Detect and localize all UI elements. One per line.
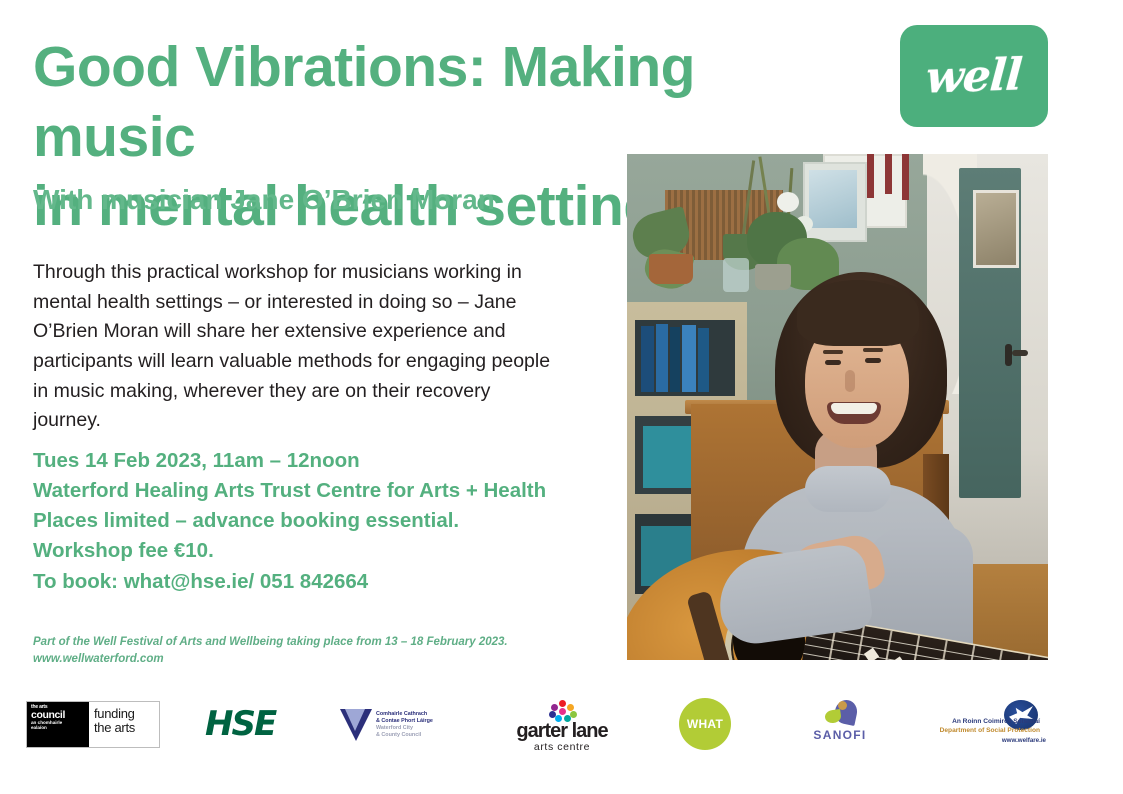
festival-note-line-1: Part of the Well Festival of Arts and We… [33,634,633,651]
hse-logo: HSE [205,702,279,746]
waterford-line-3: Waterford City [376,725,433,732]
garter-lane-sub: arts centre [512,741,612,755]
photo-folder-1 [641,326,654,392]
garter-lane-pinwheel-icon [547,700,577,720]
what-wordmark: WHAT [687,717,723,731]
sanofi-logo: SANOFI [805,700,875,750]
detail-booking-notice: Places limited – advance booking essenti… [33,506,593,536]
well-wordmark: well [924,49,1023,103]
photo-vase [723,258,749,292]
dept-social-protection-logo: An Roinn Coimirce Sóisialaí Department o… [920,702,1060,748]
photo-eyebrow-left [823,350,843,354]
photo-hair-front [797,280,919,346]
workshop-photo [627,154,1048,660]
photo-candle-3 [902,154,909,200]
arts-council-line-4: ealaíon [31,726,85,731]
waterford-line-4: & County Council [376,732,433,739]
poster-canvas: well Good Vibrations: Making music in me… [0,0,1123,794]
detail-venue: Waterford Healing Arts Trust Centre for … [33,476,593,506]
photo-frame-inner [809,170,857,228]
photo-framed-art [973,190,1019,268]
waterford-council-text: Comhairle Cathrach & Contae Phort Láirge… [376,711,433,740]
photo-candle-1 [867,154,874,198]
arts-council-tagline: funding the arts [89,702,159,747]
photo-eye-left [825,360,841,365]
festival-note-line-2[interactable]: www.wellwaterford.com [33,651,633,668]
description-paragraph: Through this practical workshop for musi… [33,258,553,436]
photo-door-knob [1005,344,1012,366]
photo-folder-4 [682,325,696,392]
arts-council-tagline-1: funding [94,707,154,721]
headline-line-1: Good Vibrations: Making music [33,35,695,169]
dsp-line-3: www.welfare.ie [920,737,1046,744]
waterford-line-1: Comhairle Cathrach [376,711,433,718]
arts-council-mark: the arts council an chomhairle ealaíon [27,702,89,747]
photo-eyebrow-right [863,348,883,352]
sanofi-wordmark: SANOFI [805,728,875,742]
dsp-line-2: Department of Social Protection [920,727,1040,735]
photo-plant-pot-2 [755,264,791,290]
photo-door-handle [1012,350,1028,356]
photo-folder-3 [670,327,680,392]
well-festival-logo: well [900,25,1048,127]
detail-fee: Workshop fee €10. [33,536,593,566]
waterford-line-2: & Contae Phort Láirge [376,718,433,725]
arts-council-logo: the arts council an chomhairle ealaíon f… [26,701,160,748]
subtitle: With musician Jane O’Brien Moran [33,183,653,217]
dsp-line-1: An Roinn Coimirce Sóisialaí [920,718,1040,726]
photo-collar [805,466,891,512]
garter-lane-name: garter lane [512,721,612,741]
arts-council-tagline-2: the arts [94,721,154,735]
what-logo: WHAT [679,698,731,750]
photo-eye-right [865,358,881,363]
detail-contact[interactable]: To book: what@hse.ie/ 051 842664 [33,567,593,597]
detail-datetime: Tues 14 Feb 2023, 11am – 12noon [33,446,593,476]
photo-orchid-1 [777,192,799,212]
event-details: Tues 14 Feb 2023, 11am – 12noon Waterfor… [33,446,593,597]
waterford-council-mark [340,709,372,741]
funder-logo-strip: the arts council an chomhairle ealaíon f… [0,694,1123,764]
photo-nose [845,370,855,392]
photo-teeth [831,403,877,414]
sanofi-mark-icon [823,700,857,726]
photo-folder-5 [698,328,709,392]
photo-folder-2 [656,324,668,392]
waterford-council-logo: Comhairle Cathrach & Contae Phort Láirge… [340,704,460,746]
photo-box-1 [643,426,695,488]
photo-plant-pot-1 [649,254,693,284]
garter-lane-logo: garter lane arts centre [512,700,612,748]
photo-candle-2 [885,154,892,194]
festival-note: Part of the Well Festival of Arts and We… [33,634,633,669]
